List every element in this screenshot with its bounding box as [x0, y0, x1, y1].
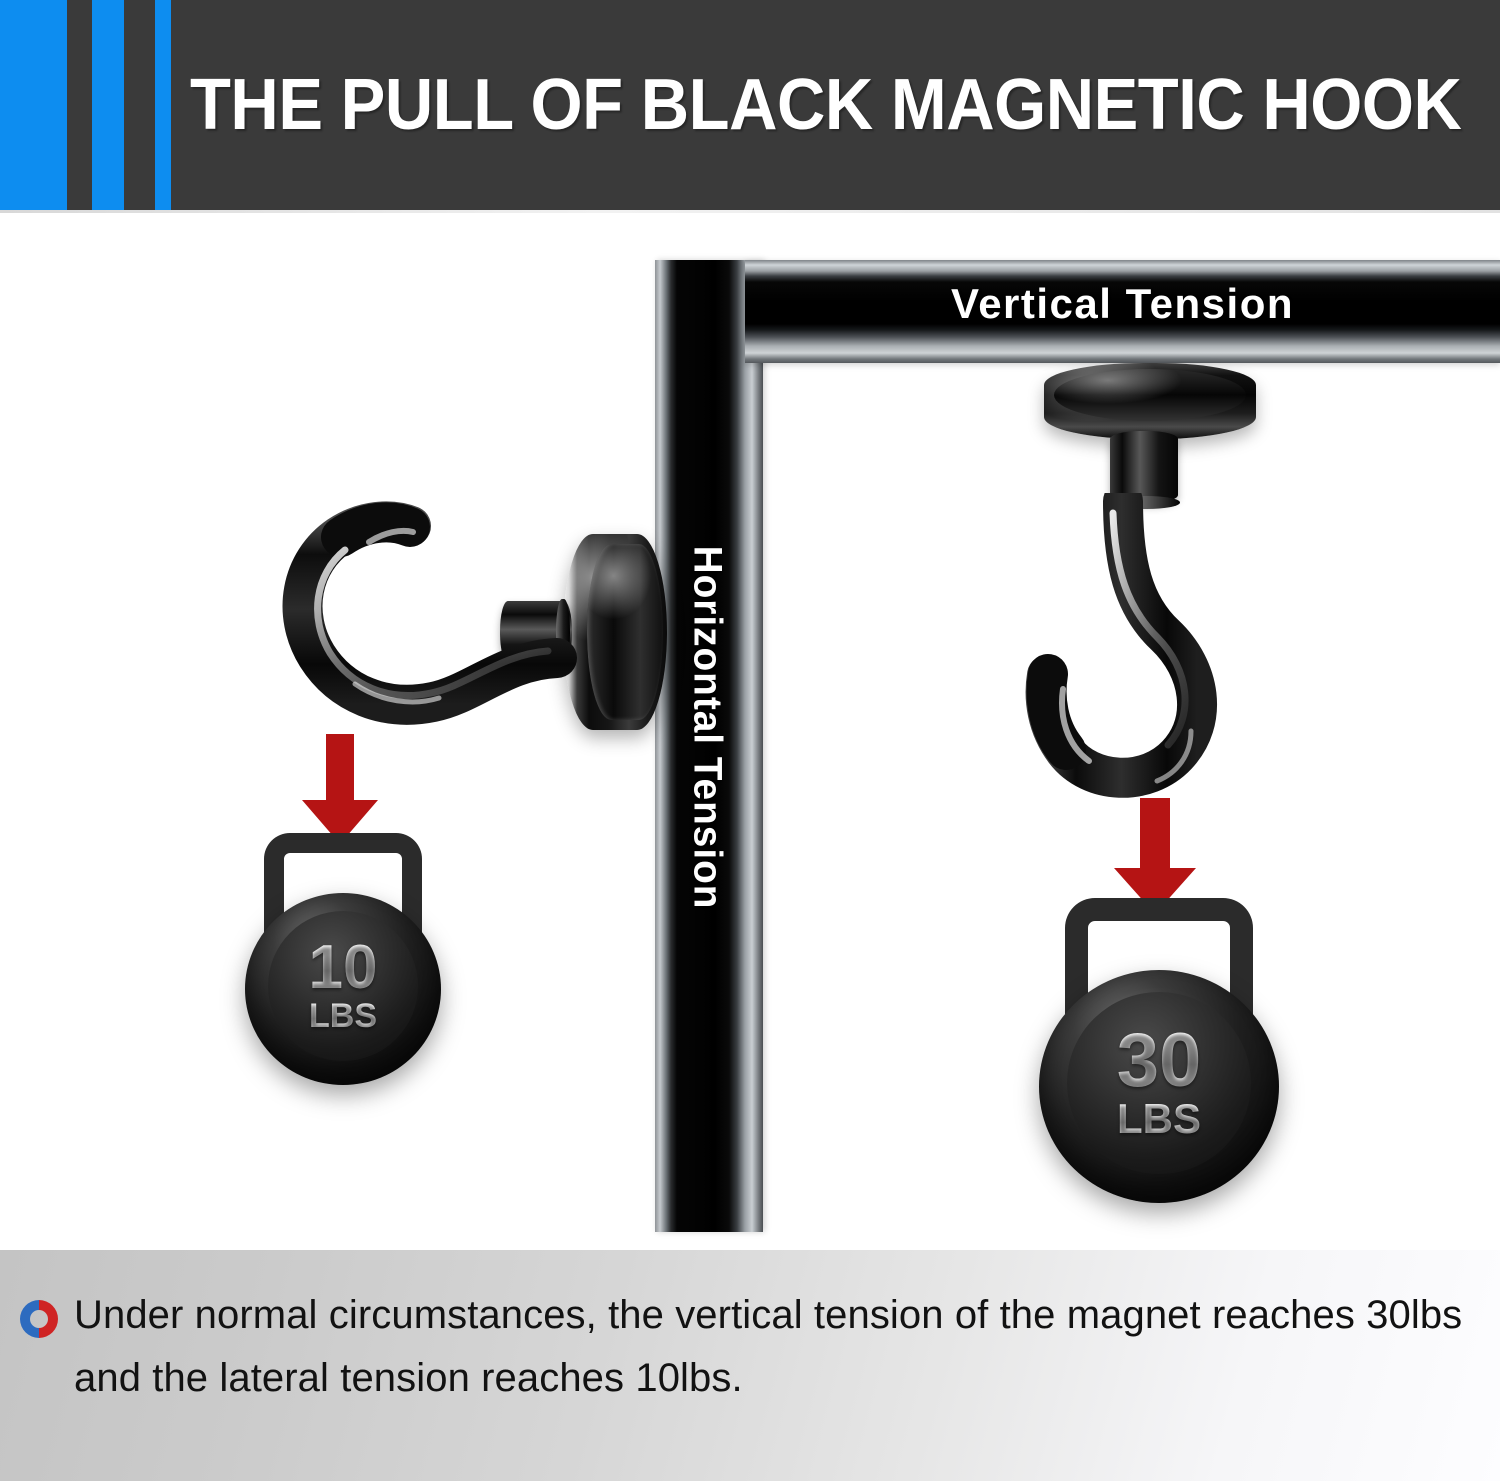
kettlebell-weight-unit: LBS — [1117, 1098, 1201, 1140]
horizontal-hook-icon — [205, 488, 605, 738]
kettlebell-weight-unit: LBS — [309, 999, 377, 1033]
wall-label-container: Horizontal Tension — [655, 260, 763, 1232]
footer-note-text: Under normal circumstances, the vertical… — [74, 1284, 1478, 1410]
kettlebell-30lbs: 30 LBS — [1028, 898, 1290, 1203]
kettlebell-weight-value: 10 — [309, 939, 378, 996]
kettlebell-face: 10 LBS — [268, 911, 418, 1061]
accent-stripe-thin — [155, 0, 171, 210]
vertical-tension-label: Vertical Tension — [951, 280, 1294, 328]
kettlebell-body: 10 LBS — [245, 893, 441, 1085]
magnet-poles-ring-icon — [18, 1298, 60, 1340]
footer-inner: Under normal circumstances, the vertical… — [18, 1284, 1478, 1410]
accent-stripe-wide — [0, 0, 67, 210]
right-down-arrow-icon — [1112, 798, 1198, 914]
kettlebell-body: 30 LBS — [1039, 970, 1279, 1203]
ceiling-surface: Vertical Tension — [745, 260, 1500, 363]
left-down-arrow-icon — [300, 734, 380, 844]
ceiling-magnet-disc — [1044, 363, 1256, 439]
ceiling-label-container: Vertical Tension — [745, 278, 1500, 330]
header-banner: THE PULL OF BLACK MAGNETIC HOOK — [0, 0, 1500, 210]
kettlebell-10lbs: 10 LBS — [238, 833, 448, 1085]
ceiling-magnet-rim — [1054, 369, 1246, 421]
accent-stripe-medium — [92, 0, 124, 210]
wall-surface: Horizontal Tension — [655, 260, 763, 1232]
infographic-page: THE PULL OF BLACK MAGNETIC HOOK Horizont… — [0, 0, 1500, 1481]
page-title: THE PULL OF BLACK MAGNETIC HOOK — [190, 0, 1461, 210]
kettlebell-face: 30 LBS — [1067, 992, 1251, 1174]
vertical-hook-icon — [985, 493, 1275, 823]
footer-note-panel: Under normal circumstances, the vertical… — [0, 1250, 1500, 1481]
kettlebell-weight-value: 30 — [1117, 1026, 1202, 1096]
horizontal-tension-label: Horizontal Tension — [685, 546, 730, 910]
diagram-stage: Horizontal Tension Vertical Tension — [0, 213, 1500, 1250]
